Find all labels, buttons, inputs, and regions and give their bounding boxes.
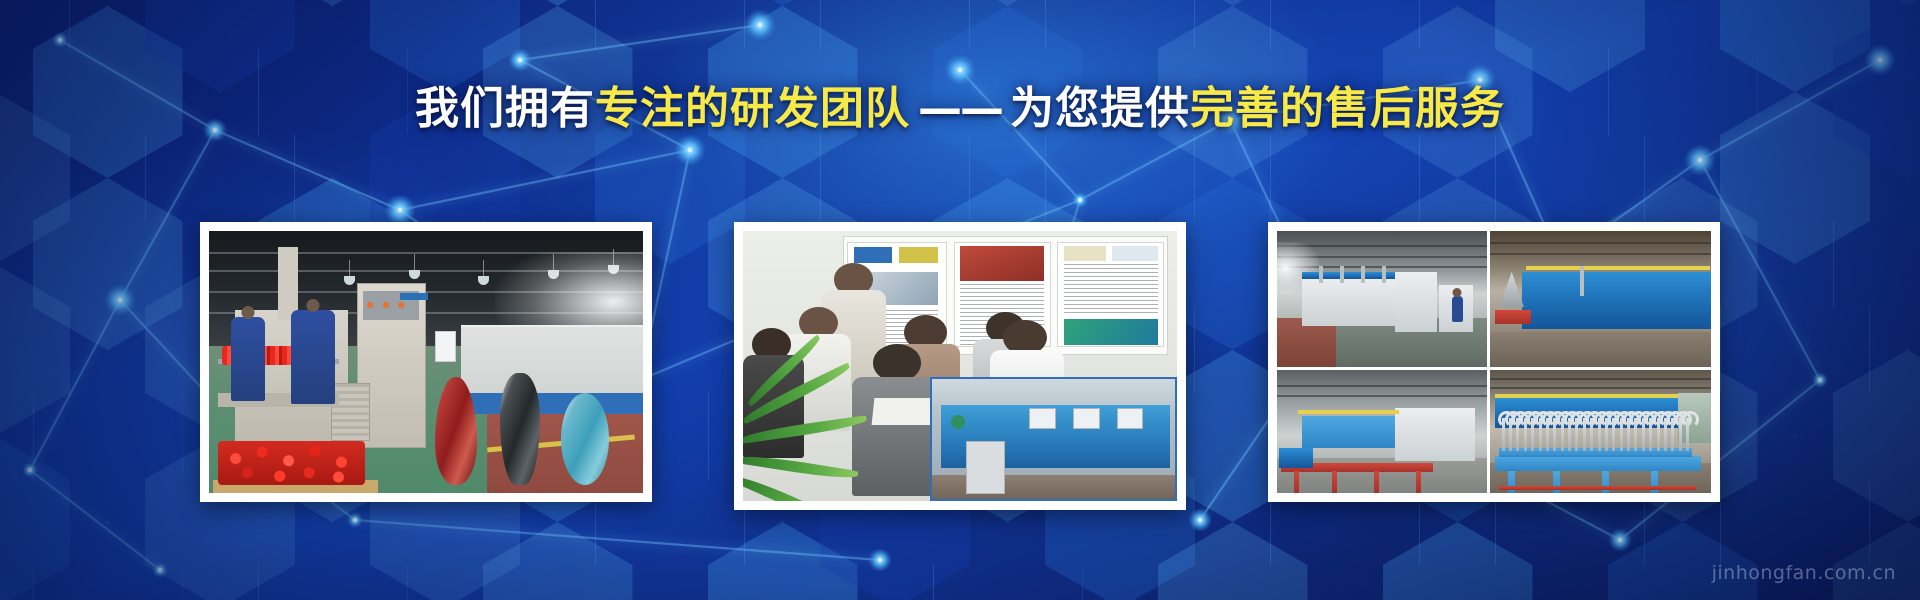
collage-cell-hanger-line: [1490, 370, 1711, 493]
vertical-pipe: [1319, 266, 1323, 282]
banner-headline: 我们拥有专注的研发团队——为您提供完善的售后服务: [0, 84, 1920, 135]
support-leg: [1332, 471, 1337, 493]
hanger-hook: [1612, 418, 1615, 451]
hanger-hook: [1509, 418, 1512, 451]
collage-cell-coating-line: [1277, 231, 1487, 367]
yellow-rail: [1298, 410, 1399, 414]
inset-panel: [1117, 408, 1144, 430]
inset-panel: [1073, 408, 1100, 430]
photo-production-line: [209, 231, 643, 493]
vertical-pipe: [1361, 266, 1365, 282]
equipment-inset-photo: [930, 377, 1177, 501]
photo-equipment-collage: [1277, 231, 1711, 493]
certificate-thumbnail: [1112, 246, 1157, 261]
platform-top: [1499, 448, 1691, 457]
hanger-hook: [1531, 418, 1534, 451]
hanger-hook: [1568, 418, 1571, 451]
palm-plant: [743, 393, 873, 501]
indicator-light: [383, 302, 389, 308]
palm-leaf: [743, 452, 859, 482]
vertical-pipe: [1382, 266, 1386, 282]
hanger-hook: [1627, 418, 1630, 451]
vertical-pipe: [1340, 266, 1344, 282]
headline-segment-1: 我们拥有: [415, 83, 595, 134]
hanger-hook: [1546, 418, 1549, 451]
hanger-hook: [1664, 418, 1667, 451]
site-watermark: jinhongfan.com.cn: [1712, 562, 1896, 584]
hanger-hook: [1516, 418, 1519, 451]
photo-frame-equipment-collage[interactable]: [1268, 222, 1720, 502]
headline-segment-dash: ——: [910, 83, 1010, 134]
support-leg: [1416, 471, 1421, 493]
palm-leaf: [743, 416, 867, 445]
cabinet-label: [400, 293, 428, 301]
poster-photo: [960, 246, 1044, 281]
support-leg: [1374, 471, 1379, 493]
riser-pipe: [1580, 266, 1584, 296]
oven-entrance: [1395, 408, 1475, 461]
hanger-hook: [1590, 418, 1593, 451]
roof-beam: [1490, 253, 1711, 255]
collage-cell-conveyor: [1277, 370, 1487, 493]
hanger-hook: [1649, 418, 1652, 451]
posted-document: [435, 331, 457, 362]
white-equipment-run: [1302, 277, 1395, 326]
photo-frame-team-meeting[interactable]: [734, 222, 1186, 510]
poster-thumbnail: [854, 247, 893, 263]
roof-beam: [1277, 385, 1487, 387]
photo-row: [0, 222, 1920, 510]
yellow-rail: [1495, 394, 1683, 398]
headline-segment-2: 专注的研发团队: [595, 83, 910, 134]
glass-vase-red: [435, 377, 477, 485]
hanger-hook: [1575, 418, 1578, 451]
red-loading-car: [1495, 310, 1531, 324]
hanger-hook: [1502, 418, 1505, 451]
hanger-hook: [1553, 418, 1556, 451]
roof-beam: [1490, 387, 1711, 389]
hanger-hook: [1539, 418, 1542, 451]
roof-beam: [1277, 395, 1487, 397]
hanger-hook: [1634, 418, 1637, 451]
factory-worker: [1452, 296, 1463, 322]
hanger-hook: [1598, 418, 1601, 451]
hanger-hook: [1657, 418, 1660, 451]
support-leg: [1294, 471, 1299, 493]
headline-segment-3: 为您提供: [1010, 83, 1190, 134]
ceiling-lamp: [344, 276, 355, 285]
drive-unit: [1279, 448, 1313, 468]
factory-worker: [231, 317, 266, 401]
poster-photo: [1064, 319, 1158, 345]
collage-grid: [1277, 231, 1711, 493]
exhaust-hood: [1499, 272, 1524, 307]
yellow-gas-pipe: [1526, 266, 1709, 270]
blue-top-rail: [1302, 272, 1395, 279]
floor-red-line: [1499, 486, 1696, 490]
line-enclosure-blue-band: [461, 393, 643, 414]
blue-enclosure: [1302, 416, 1395, 449]
plastic-crate: [331, 383, 370, 441]
headline-segment-4: 完善的售后服务: [1190, 83, 1505, 134]
poster-thumbnail: [899, 247, 938, 263]
glass-vase-black: [500, 373, 540, 485]
collage-floor: [1490, 332, 1711, 367]
hanger-hook: [1686, 418, 1689, 451]
hanger-hook: [1583, 418, 1586, 451]
certificate-thumbnail: [1064, 246, 1106, 261]
hanger-hook: [1524, 418, 1527, 451]
inset-green-wheel: [951, 415, 965, 429]
factory-worker: [291, 310, 334, 404]
control-cabinet: [1395, 272, 1437, 332]
roof-beam: [1490, 378, 1711, 380]
photo-frame-production-line[interactable]: [200, 222, 652, 502]
indicator-light: [398, 302, 404, 308]
blue-oven-tunnel: [1522, 272, 1711, 329]
hanger-hook: [1642, 418, 1645, 451]
hanger-hook: [1620, 418, 1623, 451]
collage-cell-blue-oven: [1490, 231, 1711, 367]
roof-beam: [1490, 242, 1711, 244]
ceiling-lamp: [478, 276, 489, 285]
hanger-hook: [1561, 418, 1564, 451]
platform-beam: [1495, 456, 1701, 471]
exhaust-stack: [278, 247, 298, 320]
banner-root: 我们拥有专注的研发团队——为您提供完善的售后服务: [0, 0, 1920, 600]
inset-panel: [1029, 408, 1056, 430]
glass-vase-blue: [561, 393, 609, 485]
hanger-hook: [1679, 418, 1682, 451]
hanger-hook: [1605, 418, 1608, 451]
hanger-hook: [1671, 418, 1674, 451]
poster-text-lines: [1064, 264, 1158, 315]
palm-leaf: [743, 472, 838, 501]
photo-team-meeting: [743, 231, 1177, 501]
inset-control-box: [966, 441, 1005, 494]
red-parts-pile: [218, 441, 366, 486]
